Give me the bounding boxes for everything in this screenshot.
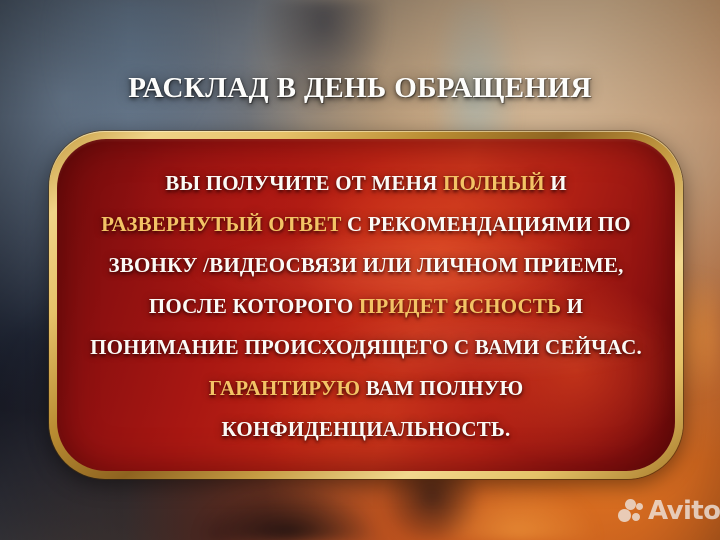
highlighted-phrase: ПРИДЕТ ЯСНОСТЬ [359,294,561,318]
gold-framed-card: ВЫ ПОЛУЧИТЕ ОТ МЕНЯ ПОЛНЫЙ ИРАЗВЕРНУТЫЙ … [49,131,683,479]
card-body-text: ВЫ ПОЛУЧИТЕ ОТ МЕНЯ ПОЛНЫЙ ИРАЗВЕРНУТЫЙ … [57,139,675,471]
text-run: ВАМ ПОЛНУЮ [360,376,523,400]
card-text-line: ПОСЛЕ КОТОРОГО ПРИДЕТ ЯСНОСТЬ И [149,286,583,327]
text-run: КОНФИДЕНЦИАЛЬНОСТЬ. [222,417,511,441]
card-text-line: ГАРАНТИРУЮ ВАМ ПОЛНУЮ [209,368,524,409]
text-run: ВЫ ПОЛУЧИТЕ ОТ МЕНЯ [165,171,443,195]
text-run: С РЕКОМЕНДАЦИЯМИ ПО [342,212,631,236]
avito-circles-icon [618,499,643,523]
card-text-line: ЗВОНКУ /ВИДЕОСВЯЗИ ИЛИ ЛИЧНОМ ПРИЕМЕ, [108,245,623,286]
card-text-line: ВЫ ПОЛУЧИТЕ ОТ МЕНЯ ПОЛНЫЙ И [165,163,567,204]
highlighted-phrase: ПОЛНЫЙ [443,171,545,195]
text-run: ПОСЛЕ КОТОРОГО [149,294,359,318]
highlighted-phrase: ГАРАНТИРУЮ [209,376,361,400]
highlighted-phrase: РАЗВЕРНУТЫЙ ОТВЕТ [101,212,341,236]
card-text-line: ПОНИМАНИЕ ПРОИСХОДЯЩЕГО С ВАМИ СЕЙЧАС. [90,327,642,368]
text-run: ПОНИМАНИЕ ПРОИСХОДЯЩЕГО С ВАМИ СЕЙЧАС. [90,335,642,359]
page-title: РАСКЛАД В ДЕНЬ ОБРАЩЕНИЯ [0,72,720,105]
card-text-line: КОНФИДЕНЦИАЛЬНОСТЬ. [222,409,511,450]
text-run: И [561,294,583,318]
poster-canvas: РАСКЛАД В ДЕНЬ ОБРАЩЕНИЯ ВЫ ПОЛУЧИТЕ ОТ … [0,0,720,540]
card-red-panel: ВЫ ПОЛУЧИТЕ ОТ МЕНЯ ПОЛНЫЙ ИРАЗВЕРНУТЫЙ … [57,139,675,471]
card-text-line: РАЗВЕРНУТЫЙ ОТВЕТ С РЕКОМЕНДАЦИЯМИ ПО [101,204,631,245]
text-run: И [545,171,567,195]
avito-watermark: Avito [618,498,720,524]
text-run: ЗВОНКУ /ВИДЕОСВЯЗИ ИЛИ ЛИЧНОМ ПРИЕМЕ, [108,253,623,277]
avito-brand-label: Avito [648,498,720,524]
